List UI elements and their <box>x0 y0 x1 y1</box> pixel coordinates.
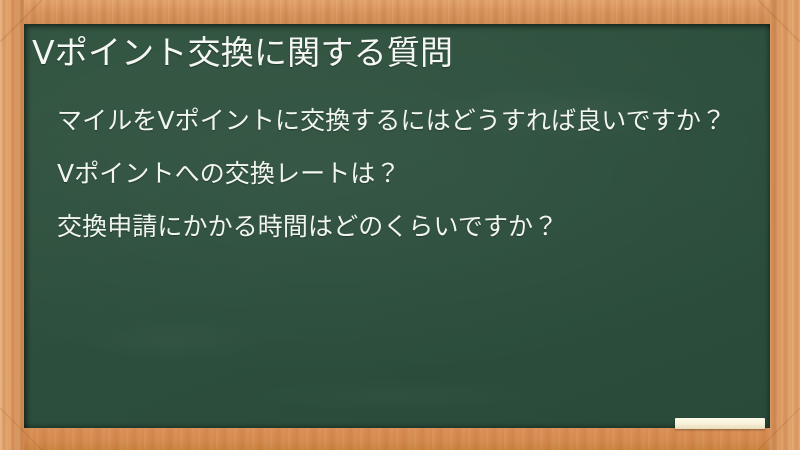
frame-right-edge <box>770 0 800 450</box>
question-list: マイルをVポイントに交換するにはどうすれば良いですか？ Vポイントへの交換レート… <box>57 104 747 244</box>
chalkboard-scene: Vポイント交換に関する質問 マイルをVポイントに交換するにはどうすれば良いですか… <box>0 0 800 450</box>
list-item: マイルをVポイントに交換するにはどうすれば良いですか？ <box>57 104 747 138</box>
blackboard-surface: Vポイント交換に関する質問 マイルをVポイントに交換するにはどうすれば良いですか… <box>24 24 770 428</box>
chalk-stick-icon <box>675 418 765 429</box>
board-content: Vポイント交換に関する質問 マイルをVポイントに交換するにはどうすれば良いですか… <box>24 24 770 428</box>
frame-bottom-ledge <box>0 428 800 450</box>
page-title: Vポイント交換に関する質問 <box>32 32 752 74</box>
list-item: Vポイントへの交換レートは？ <box>57 157 747 191</box>
frame-top-edge <box>0 0 800 24</box>
list-item: 交換申請にかかる時間はどのくらいですか？ <box>57 210 747 244</box>
frame-left-edge <box>0 0 24 450</box>
